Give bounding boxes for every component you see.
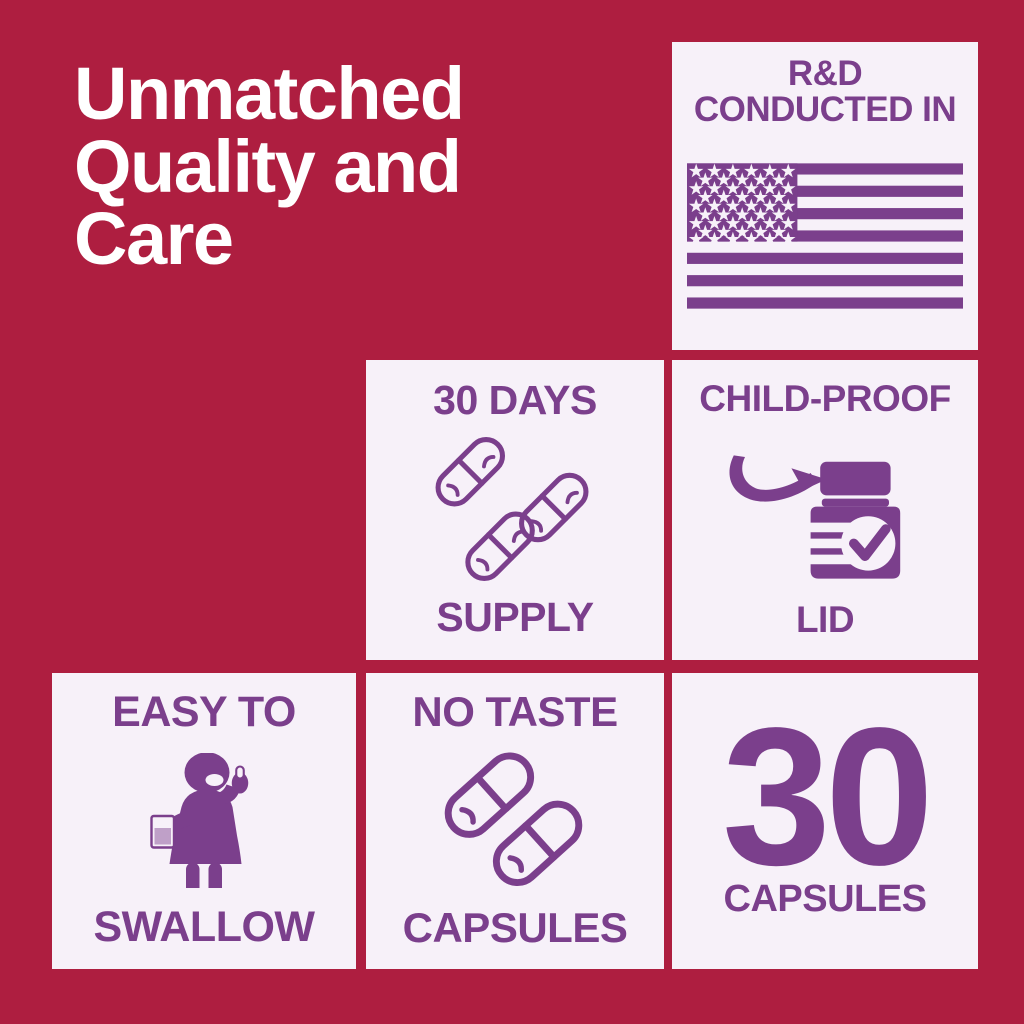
- person-taking-pill-icon: [139, 753, 269, 888]
- three-capsules-icon: [425, 430, 605, 588]
- usa-flag-icon: [687, 163, 963, 309]
- capsule-count-caption: CAPSULES: [724, 878, 927, 921]
- panel-30-days-supply: 30 DAYS: [366, 360, 664, 660]
- panel-supply-label-top: 30 DAYS: [374, 380, 656, 421]
- person-taking-pill-art: [60, 734, 348, 906]
- infographic-canvas: Unmatched Quality and Care R&D CONDUCTED…: [0, 0, 1024, 1024]
- panel-swallow-label-top: EASY TO: [60, 691, 348, 734]
- panel-child-proof-lid: CHILD-PROOF: [672, 360, 978, 660]
- panel-notaste-label-top: NO TASTE: [374, 691, 656, 733]
- panel-rd-label-top: R&D CONDUCTED IN: [680, 56, 970, 129]
- panel-no-taste-capsules: NO TASTE CAPSULES: [366, 673, 664, 969]
- two-capsules-art: [374, 733, 656, 907]
- panel-capsule-count: 30 CAPSULES: [672, 673, 978, 969]
- bottle-childproof-lid-icon: [721, 433, 929, 585]
- panel-notaste-label-bottom: CAPSULES: [374, 907, 656, 949]
- three-capsules-art: [374, 421, 656, 597]
- panel-easy-to-swallow: EASY TO: [52, 673, 356, 969]
- capsule-count-number: 30: [722, 717, 928, 878]
- usa-flag-art: [680, 139, 970, 334]
- page-title: Unmatched Quality and Care: [74, 58, 634, 276]
- panel-lid-label-bottom: LID: [680, 601, 970, 638]
- panel-rd-conducted-in-usa: R&D CONDUCTED IN: [672, 42, 978, 350]
- two-capsules-icon: [420, 750, 610, 890]
- panel-supply-label-bottom: SUPPLY: [374, 597, 656, 638]
- panel-swallow-label-bottom: SWALLOW: [60, 906, 348, 949]
- panel-lid-label-top: CHILD-PROOF: [680, 380, 970, 417]
- bottle-childproof-art: [680, 417, 970, 601]
